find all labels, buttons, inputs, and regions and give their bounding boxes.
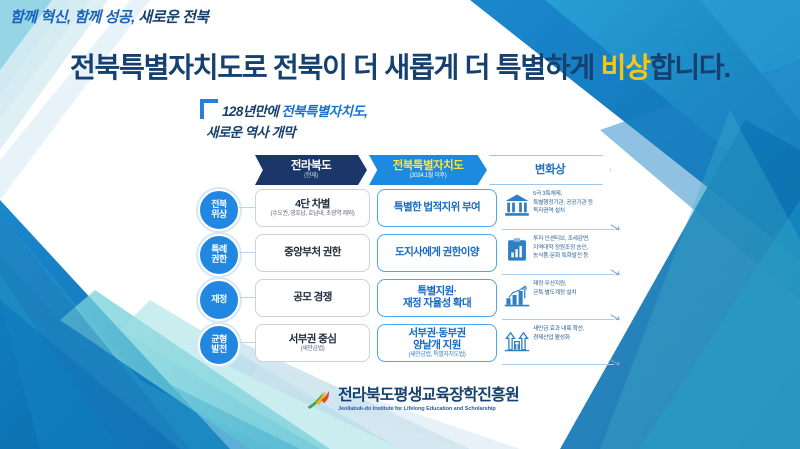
slide-canvas: 함께 혁신, 함께 성공, 새로운 전북 전북특별자치도로 전북이 더 새롭게 …: [0, 0, 800, 449]
cell-future: 특별한 법적지위 부여: [377, 189, 497, 227]
row-badge-status: 특례 권한: [198, 234, 240, 276]
cell-future-main: 특별지원· 재정 자율성 확대: [403, 285, 471, 309]
row-badge-status: 균형 발전: [198, 324, 240, 366]
connector-line: [239, 342, 255, 343]
cell-change: 5극 3특체제, 특별행정기관, 공공기관 등 독자권역 설치: [504, 188, 620, 228]
badge-line2: 발전: [211, 345, 227, 355]
header-sub-future: (2024.1월 이후): [410, 173, 447, 180]
clipboard-chart-icon: [504, 237, 530, 263]
logo-wordmark: 전라북도평생교육장학진흥원 Jeollabuk-do Institute for…: [338, 388, 519, 413]
page-title: 전북특별자치도로 전북이 더 새롭게 더 특별하게 비상합니다.: [0, 46, 800, 86]
cell-current-main: 4단 차별: [295, 198, 330, 210]
cell-current: 4단 차별 (수도권, 영호남, 호남내, 초광역 제외): [255, 189, 370, 227]
connector-line: [239, 207, 255, 208]
header-title-change: 변화상: [535, 164, 565, 176]
growth-plant-icon: [504, 282, 530, 308]
row-badge-status: 전북 위상: [198, 189, 240, 231]
cell-change: 투자 인센티브, 조세감면, 지역대학 정원조정 승인, 농식품·문화 특화발전…: [504, 233, 620, 273]
badge-line1: 재정: [211, 295, 227, 305]
cell-current-sub: (새만금법): [301, 346, 325, 353]
table-header-row: 전라북도 (현재) 전북특별자치도 (2024.1월 이후) 변화상: [198, 155, 618, 185]
cell-current-main: 서부권 중심: [289, 333, 337, 345]
cell-change-text: 투자 인센티브, 조세감면, 지역대학 정원조정 승인, 농식품·문화 특화발전…: [533, 235, 619, 261]
cell-current-main: 중앙부처 권한: [284, 246, 341, 258]
table-row: 균형 발전 서부권 중심 (새만금법) 서부권·동부권 양날개 지원 (새만금법…: [198, 321, 618, 365]
headline-highlight: 비상: [601, 52, 650, 83]
cell-future: 서부권·동부권 양날개 지원 (새만금법, 특별자치도법): [377, 324, 497, 362]
headline-after: 합니다.: [650, 52, 730, 83]
table-row: 재정 공모 경쟁 특별지원· 재정 자율성 확대: [198, 276, 618, 320]
bank-building-icon: [504, 192, 530, 218]
headline-before: 전북특별자치도로 전북이 더 새롭게 더 특별하게: [70, 52, 601, 83]
cell-future: 특별지원· 재정 자율성 확대: [377, 279, 497, 317]
kicker-part2: 새로운 전북: [138, 9, 208, 26]
change-rule: [502, 274, 614, 275]
subheadline-line2: 새로운 역사 개막: [206, 121, 295, 141]
subheadline-blue: 전북특별자치도,: [281, 104, 367, 119]
arrow-right-icon: [610, 359, 620, 369]
cell-current: 공모 경쟁: [255, 279, 370, 317]
header-chevron-future: 전북특별자치도 (2024.1월 이후): [369, 155, 487, 185]
corner-bracket-icon: [200, 99, 218, 119]
connector-line: [239, 252, 255, 253]
change-rule: [502, 364, 614, 365]
cell-future: 도지사에게 권한이양: [377, 234, 497, 272]
institute-logo-icon: [306, 389, 332, 411]
table-row: 전북 위상 4단 차별 (수도권, 영호남, 호남내, 초광역 제외) 특별한 …: [198, 186, 618, 230]
logo-name-kr: 전라북도평생교육장학진흥원: [338, 388, 519, 404]
badge-line2: 위상: [211, 210, 227, 220]
cell-change: 새만금 효과 내륙 확산, 경제산업 활성화: [504, 323, 620, 363]
cell-current-sub: (수도권, 영호남, 호남내, 초광역 제외): [271, 211, 355, 218]
comparison-table: 전라북도 (현재) 전북특별자치도 (2024.1월 이후) 변화상 전북 위상: [198, 155, 618, 365]
kicker-text: 함께 혁신, 함께 성공, 새로운 전북: [10, 6, 209, 27]
header-title-current: 전라북도: [291, 160, 331, 172]
cell-current-main: 공모 경쟁: [293, 291, 332, 303]
table-row: 특례 권한 중앙부처 권한 도지사에게 권한이양: [198, 231, 618, 275]
header-title-future: 전북특별자치도: [393, 160, 464, 172]
header-sub-current: (현재): [304, 173, 318, 180]
header-chevron-current: 전라북도 (현재): [255, 155, 367, 185]
change-rule: [502, 229, 614, 230]
cell-change-text: 새만금 효과 내륙 확산, 경제산업 활성화: [533, 325, 619, 342]
cell-current: 중앙부처 권한: [255, 234, 370, 272]
upward-arrows-building-icon: [504, 327, 530, 353]
subheadline-plain: 128년만에: [222, 104, 281, 119]
kicker-part1: 함께 혁신, 함께 성공,: [10, 9, 135, 26]
cell-future-main: 특별한 법적지위 부여: [394, 201, 480, 213]
cell-change: 재정 우선지원, 균특 별도계정 설치: [504, 278, 620, 318]
footer-logo: 전라북도평생교육장학진흥원 Jeollabuk-do Institute for…: [306, 388, 519, 413]
cell-change-text: 재정 우선지원, 균특 별도계정 설치: [533, 280, 619, 297]
cell-change-text: 5극 3특체제, 특별행정기관, 공공기관 등 독자권역 설치: [533, 190, 619, 216]
cell-future-main: 서부권·동부권 양날개 지원: [408, 327, 465, 351]
row-badge-status: 재정: [198, 279, 240, 321]
logo-name-en: Jeollabuk-do Institute for Lifelong Educ…: [338, 407, 519, 413]
header-chevron-change: 변화상: [489, 155, 611, 185]
change-rule: [502, 319, 614, 320]
cell-future-sub: (새만금법, 특별자치도법): [409, 352, 466, 359]
cell-current: 서부권 중심 (새만금법): [255, 324, 370, 362]
connector-line: [239, 297, 255, 298]
badge-line2: 권한: [211, 255, 227, 265]
cell-future-main: 도지사에게 권한이양: [395, 246, 479, 258]
subheadline-line1: 128년만에 전북특별자치도,: [222, 103, 367, 121]
